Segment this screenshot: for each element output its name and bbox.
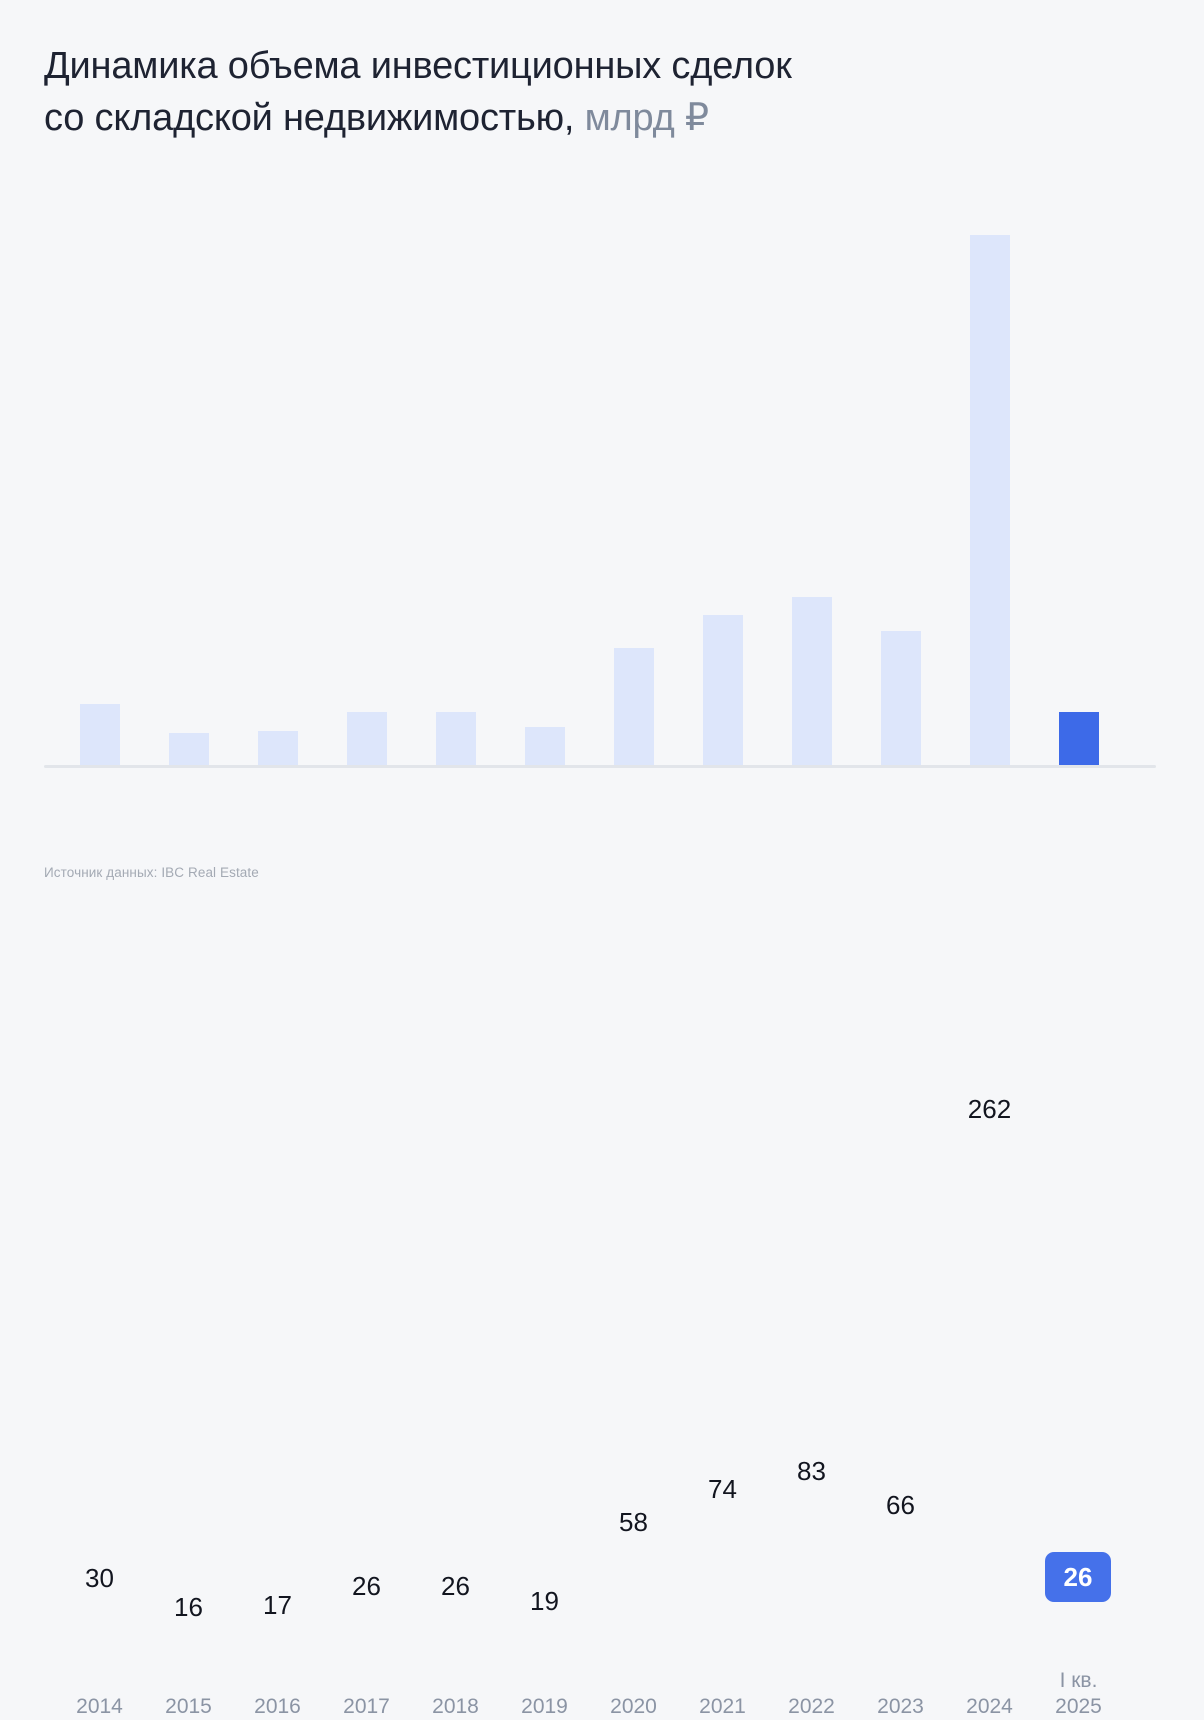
bar-value-label: 74 [678, 1474, 767, 1504]
chart-figure: Динамика объема инвестиционных сделок со… [0, 0, 1204, 902]
bar-value-label: 58 [589, 1507, 678, 1537]
x-axis-label: 2019 [500, 1694, 589, 1720]
x-axis-label: 2022 [767, 1694, 856, 1720]
bar[interactable] [80, 704, 120, 765]
bar[interactable] [792, 597, 832, 765]
x-axis-label: 2017 [322, 1694, 411, 1720]
x-axis-label: 2016 [233, 1694, 322, 1720]
x-axis-label: 2015 [144, 1694, 233, 1720]
bar[interactable] [881, 631, 921, 765]
bar[interactable] [703, 615, 743, 765]
bar[interactable] [614, 648, 654, 765]
x-axis-label: 2023 [856, 1694, 945, 1720]
x-axis-label-line-1: I кв. [1034, 1668, 1123, 1694]
bar[interactable] [525, 727, 565, 765]
bar-value-badge: 26 [1045, 1552, 1111, 1602]
bar-value-label: 26 [411, 1571, 500, 1601]
x-axis-label: 2024 [945, 1694, 1034, 1720]
bar[interactable] [347, 712, 387, 765]
x-axis-label: 2021 [678, 1694, 767, 1720]
bar-value-label: 30 [55, 1563, 144, 1593]
bar-series: 3020141620151720162620172620181920195820… [0, 0, 1204, 902]
bar[interactable] [169, 733, 209, 765]
bar-value-label: 19 [500, 1586, 589, 1616]
bar-value-label: 83 [767, 1456, 856, 1486]
x-axis-label: I кв.2025 [1034, 1668, 1123, 1720]
plot-area: 3020141620151720162620172620181920195820… [0, 0, 1204, 902]
bar[interactable] [258, 731, 298, 765]
bar-value-label: 262 [945, 1094, 1034, 1124]
x-axis-label: 2020 [589, 1694, 678, 1720]
bar-value-label: 17 [233, 1590, 322, 1620]
bar-value-label: 16 [144, 1592, 233, 1622]
source-note: Источник данных: IBC Real Estate [44, 864, 259, 882]
bar[interactable] [436, 712, 476, 765]
bar[interactable] [970, 235, 1010, 765]
x-axis-label-line-2: 2025 [1034, 1694, 1123, 1720]
x-axis-label: 2018 [411, 1694, 500, 1720]
bar-highlighted[interactable] [1059, 712, 1099, 765]
bar-value-label: 66 [856, 1490, 945, 1520]
x-axis-label: 2014 [55, 1694, 144, 1720]
bar-value-label: 26 [322, 1571, 411, 1601]
